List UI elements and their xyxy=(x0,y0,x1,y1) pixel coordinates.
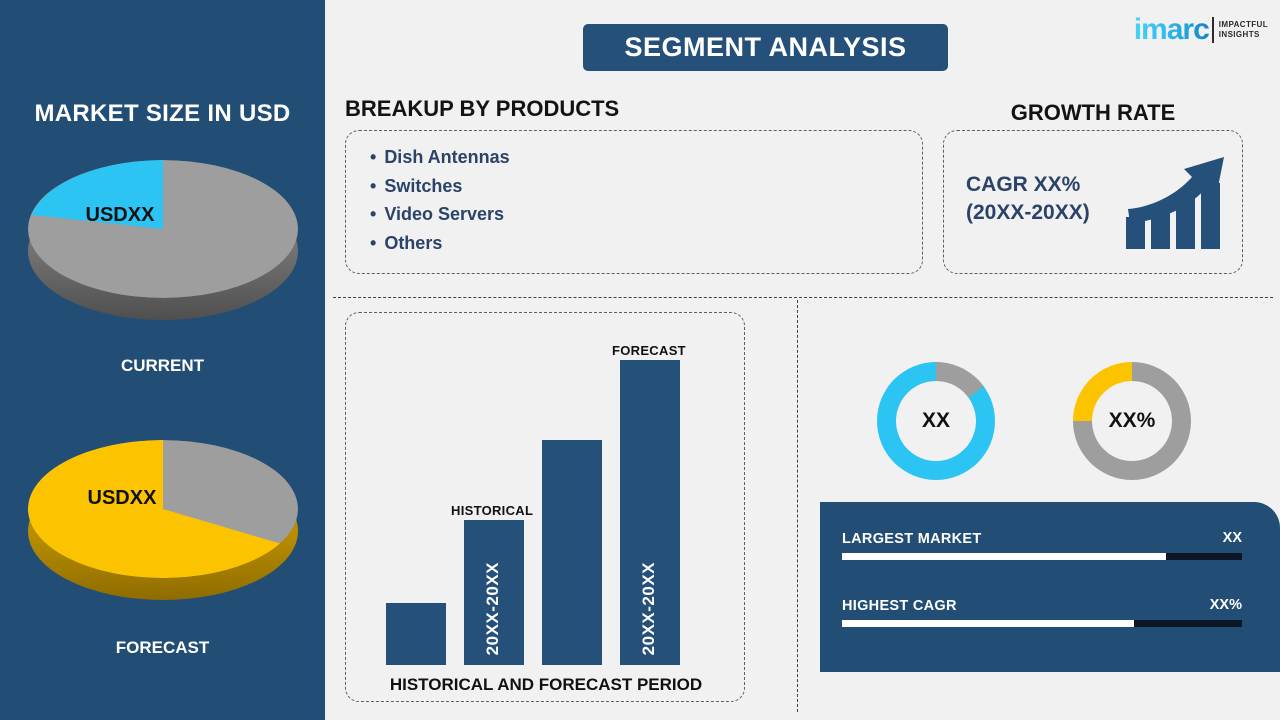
bar-1 xyxy=(386,603,446,665)
current-pie-top xyxy=(28,160,298,298)
largest-market-label: LARGEST MARKET xyxy=(842,531,982,547)
forecast-pie-chart: USDXX FORECAST xyxy=(0,440,325,600)
highest-cagr-stat: HIGHEST CAGR XX% xyxy=(842,597,1242,627)
market-volume-donut: XX xyxy=(877,362,995,480)
market-stats-panel: LARGEST MARKET XX HIGHEST CAGR XX% xyxy=(820,502,1280,672)
growth-arrow-chart-icon xyxy=(1124,149,1232,251)
logo-tagline-line1: IMPACTFUL xyxy=(1219,20,1268,29)
logo-wordmark: imarc xyxy=(1134,15,1209,45)
forecast-pie-svg xyxy=(28,440,298,578)
current-pie-caption: CURRENT xyxy=(0,356,325,376)
largest-market-progress-fill xyxy=(842,553,1166,560)
logo-tagline-line2: INSIGHTS xyxy=(1219,30,1260,39)
logo-divider xyxy=(1212,17,1214,43)
largest-market-progress-track xyxy=(842,553,1242,560)
list-item: Others xyxy=(370,229,510,258)
sidebar-title: MARKET SIZE IN USD xyxy=(0,100,325,128)
imarc-logo: imarc IMPACTFUL INSIGHTS xyxy=(1134,10,1268,50)
highest-cagr-label: HIGHEST CAGR xyxy=(842,598,957,614)
bar-chart: 20XX-20XX HISTORICAL 20XX-20XX FORECAST … xyxy=(346,313,746,703)
highest-cagr-value: XX% xyxy=(1210,597,1242,613)
list-item: Video Servers xyxy=(370,200,510,229)
market-volume-donut-value: XX xyxy=(896,381,976,461)
historical-label: HISTORICAL xyxy=(451,503,533,518)
market-share-donut: XX% xyxy=(1073,362,1191,480)
logo-tagline: IMPACTFUL INSIGHTS xyxy=(1219,20,1268,40)
bar-4-label: 20XX-20XX xyxy=(639,562,659,655)
forecast-label: FORECAST xyxy=(612,343,686,358)
bar-3 xyxy=(542,440,602,665)
largest-market-value: XX xyxy=(1223,530,1242,546)
cagr-text: CAGR XX% (20XX-20XX) xyxy=(966,171,1090,227)
current-pie-slice-label: USDXX xyxy=(86,204,155,227)
products-section-title: BREAKUP BY PRODUCTS xyxy=(345,96,619,122)
forecast-pie-3d: USDXX xyxy=(28,440,298,600)
products-card: Dish Antennas Switches Video Servers Oth… xyxy=(345,130,923,274)
current-pie-svg xyxy=(28,160,298,298)
list-item: Dish Antennas xyxy=(370,143,510,172)
market-size-sidebar: MARKET SIZE IN USD USDXX CURRENT xyxy=(0,0,325,720)
forecast-pie-caption: FORECAST xyxy=(0,638,325,658)
growth-card: CAGR XX% (20XX-20XX) xyxy=(943,130,1243,274)
main-content: SEGMENT ANALYSIS imarc IMPACTFUL INSIGHT… xyxy=(325,0,1280,720)
vertical-divider xyxy=(797,300,798,712)
cagr-line1: CAGR XX% xyxy=(966,173,1080,196)
list-item: Switches xyxy=(370,172,510,201)
market-share-donut-value: XX% xyxy=(1092,381,1172,461)
bar-2-label: 20XX-20XX xyxy=(483,562,503,655)
forecast-pie-top xyxy=(28,440,298,578)
products-list: Dish Antennas Switches Video Servers Oth… xyxy=(370,143,510,257)
cagr-line2: (20XX-20XX) xyxy=(966,201,1090,224)
horizontal-divider xyxy=(333,297,1273,298)
bar-chart-axis-label: HISTORICAL AND FORECAST PERIOD xyxy=(346,675,746,695)
highest-cagr-progress-track xyxy=(842,620,1242,627)
page-title: SEGMENT ANALYSIS xyxy=(583,24,948,71)
current-pie-chart: USDXX CURRENT xyxy=(0,160,325,320)
current-pie-3d: USDXX xyxy=(28,160,298,320)
historical-forecast-bar-card: 20XX-20XX HISTORICAL 20XX-20XX FORECAST … xyxy=(345,312,745,702)
growth-section-title: GROWTH RATE xyxy=(943,100,1243,126)
forecast-pie-slice-label: USDXX xyxy=(88,487,157,510)
highest-cagr-progress-fill xyxy=(842,620,1134,627)
largest-market-stat: LARGEST MARKET XX xyxy=(842,530,1242,560)
